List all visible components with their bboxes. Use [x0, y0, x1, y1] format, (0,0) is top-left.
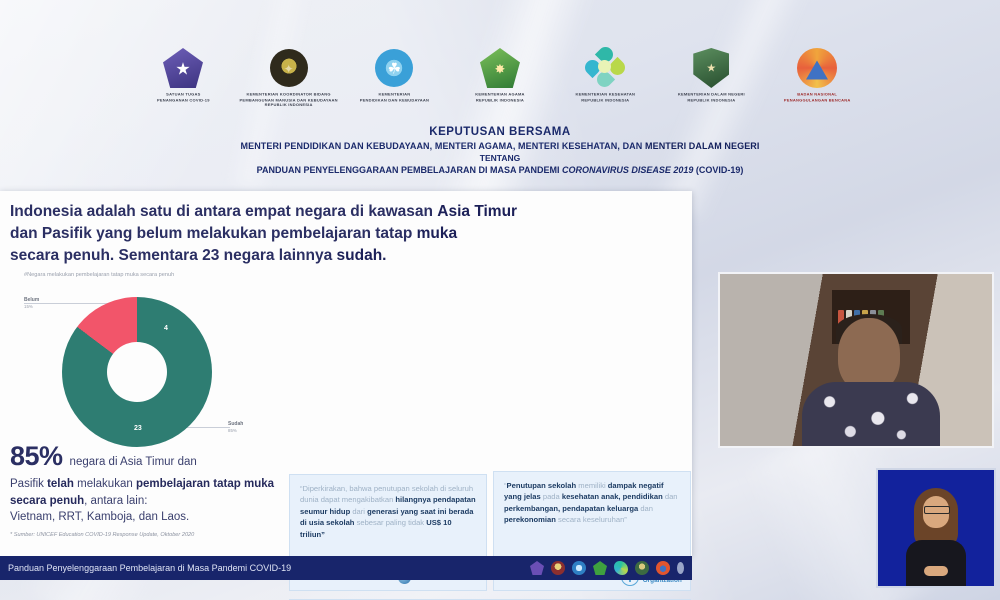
headline-l3-bold: sudah. — [337, 247, 387, 264]
stat-b2: melakukan — [74, 478, 136, 490]
bottom-taskbar: Panduan Penyelenggaraan Pembelajaran di … — [0, 556, 692, 580]
bnpb-icon[interactable] — [656, 561, 670, 575]
kemendikbud-icon: ☘ — [374, 48, 414, 88]
chart-label-sudah: Sudah — [228, 421, 243, 427]
satgas-covid-icon[interactable] — [530, 561, 544, 575]
taskbar-icon-group[interactable] — [530, 561, 692, 575]
q2-b3: kesehatan anak, pendidikan — [562, 492, 663, 501]
q2-p2: memiliki — [576, 481, 608, 490]
ministers-line: MENTERI PENDIDIKAN DAN KEBUDAYAAN, MENTE… — [0, 141, 1000, 151]
taskbar-title: Panduan Penyelenggaraan Pembelajaran di … — [8, 563, 291, 573]
kemendikbud-icon[interactable] — [572, 561, 586, 575]
stat-headline: 85% negara di Asia Timur dan — [10, 441, 278, 472]
donut-chart: 4 23 — [62, 297, 212, 447]
headline-l1-bold: Asia Timur — [437, 203, 517, 220]
chart-value-sudah: 85% — [228, 428, 237, 433]
kemenkes-icon — [585, 48, 627, 88]
logo-caption: BADAN NASIONAL PENANGGULANGAN BENCANA — [784, 92, 851, 103]
headline-l2-bold: muka — [417, 225, 458, 242]
guideline-tail: (COVID-19) — [693, 165, 743, 175]
guideline-line: PANDUAN PENYELENGGARAAN PEMBELAJARAN DI … — [0, 165, 1000, 175]
logo-kemendikbud: ☘ KEMENTERIAN PENDIDIKAN DAN KEBUDAYAAN — [346, 48, 442, 101]
logo-satgas-covid: ★ SATUAN TUGAS PENANGANAN COVID-19 — [135, 48, 231, 101]
donut-hole — [107, 342, 167, 402]
logo-kemenko-pmk: ✦ KEMENTERIAN KOORDINATOR BIDANG PEMBANG… — [241, 48, 337, 106]
q1-p2: dari — [350, 507, 367, 516]
sign-language-interpreter-feed[interactable] — [876, 468, 996, 588]
logo-caption: KEMENTERIAN DALAM NEGERI REPUBLIK INDONE… — [678, 92, 745, 103]
slide-headline: Indonesia adalah satu di antara empat ne… — [10, 201, 670, 267]
kemenkes-icon[interactable] — [614, 561, 628, 575]
presentation-stage: ★ SATUAN TUGAS PENANGANAN COVID-19 ✦ KEM… — [0, 0, 1000, 600]
logo-kemendagri: ★ KEMENTERIAN DALAM NEGERI REPUBLIK INDO… — [663, 48, 759, 101]
glasses-icon — [924, 506, 950, 514]
quote-text: “Diperkirakan, bahwa penutupan sekolah d… — [290, 475, 486, 540]
headline-l2-plain: dan Pasifik yang belum melakukan pembela… — [10, 225, 417, 242]
q2-b1: Penutupan sekolah — [507, 481, 577, 490]
stat-b4: , antara lain: — [84, 495, 147, 507]
stat-b1: Pasifik — [10, 478, 47, 490]
guideline-italic: CORONAVIRUS DISEASE 2019 — [562, 165, 693, 175]
kemenko-pmk-icon: ✦ — [269, 48, 309, 88]
q2-b4: perkembangan, pendapatan keluarga — [504, 504, 638, 513]
ministers-plain: MENTERI PENDIDIKAN DAN KEBUDAYAAN, MENTE… — [241, 141, 646, 151]
source-note: * Sumber: UNICEF Education COVID-19 Resp… — [10, 532, 278, 538]
chart-title: #Negara melakukan pembelajaran tatap muk… — [24, 271, 254, 279]
kemenag-icon[interactable] — [593, 561, 607, 575]
logo-kemenkes: KEMENTERIAN KESEHATAN REPUBLIK INDONESIA — [558, 48, 654, 101]
ministers-highlight: MENTERI DALAM NEGERI — [645, 141, 760, 151]
stat-bold1: telah — [47, 478, 74, 490]
extra-icon[interactable] — [677, 562, 684, 574]
stat-body: Pasifik telah melakukan pembelajaran tat… — [10, 476, 278, 526]
logo-caption: KEMENTERIAN KESEHATAN REPUBLIK INDONESIA — [576, 92, 636, 103]
interpreter-hands — [924, 566, 948, 576]
q2-p6: secara keseluruhan” — [556, 515, 627, 524]
stat-tail: negara di Asia Timur dan — [70, 456, 197, 468]
logo-kemenag: ✸ KEMENTERIAN AGAMA REPUBLIK INDONESIA — [452, 48, 548, 101]
q2-p5: dan — [638, 504, 653, 513]
q2-b5: perekonomian — [504, 515, 556, 524]
q1-p3: sebesar paling tidak — [354, 518, 426, 527]
headline-l3-plain: secara penuh. Sementara 23 negara lainny… — [10, 247, 337, 264]
kemendagri-icon[interactable] — [635, 561, 649, 575]
bnpb-icon — [797, 48, 837, 88]
logo-caption: KEMENTERIAN AGAMA REPUBLIK INDONESIA — [475, 92, 524, 103]
satgas-covid-icon: ★ — [163, 48, 203, 88]
chart-value-belum: 15% — [24, 304, 33, 309]
slide-content-card: Indonesia adalah satu di antara empat ne… — [0, 191, 692, 556]
speaker-batik-shirt — [802, 382, 940, 448]
segment-value-belum: 4 — [164, 325, 168, 332]
q2-p3: pada — [541, 492, 562, 501]
kemendagri-icon: ★ — [691, 48, 731, 88]
stat-block: 85% negara di Asia Timur dan Pasifik tel… — [10, 441, 278, 538]
interpreter-body — [906, 540, 966, 586]
stat-b5: Vietnam, RRT, Kamboja, dan Laos. — [10, 511, 189, 523]
header-title-block: KEPUTUSAN BERSAMA MENTERI PENDIDIKAN DAN… — [0, 126, 1000, 175]
tentang-label: TENTANG — [0, 153, 1000, 163]
quote-text: “Penutupan sekolah memiliki dampak negat… — [494, 472, 690, 526]
ministry-logo-row: ★ SATUAN TUGAS PENANGANAN COVID-19 ✦ KEM… — [135, 48, 865, 120]
donut-chart-panel: #Negara melakukan pembelajaran tatap muk… — [6, 271, 278, 451]
logo-caption: KEMENTERIAN KOORDINATOR BIDANG PEMBANGUN… — [240, 92, 338, 108]
headline-l1-plain: Indonesia adalah satu di antara empat ne… — [10, 203, 437, 220]
logo-bnpb: BADAN NASIONAL PENANGGULANGAN BENCANA — [769, 48, 865, 101]
logo-caption: SATUAN TUGAS PENANGANAN COVID-19 — [157, 92, 210, 103]
stat-percent: 85% — [10, 441, 63, 472]
speaker-head — [838, 318, 900, 392]
speaker-video-feed[interactable] — [718, 272, 994, 448]
decree-title: KEPUTUSAN BERSAMA — [0, 126, 1000, 138]
logo-caption: KEMENTERIAN PENDIDIKAN DAN KEBUDAYAAN — [360, 92, 429, 103]
kemenag-icon: ✸ — [480, 48, 520, 88]
segment-value-sudah: 23 — [134, 425, 142, 432]
kemenko-pmk-icon[interactable] — [551, 561, 565, 575]
guideline-plain: PANDUAN PENYELENGGARAAN PEMBELAJARAN DI … — [257, 165, 562, 175]
q2-p4: dan — [663, 492, 678, 501]
stat-bold2: pembelajaran — [136, 478, 210, 490]
